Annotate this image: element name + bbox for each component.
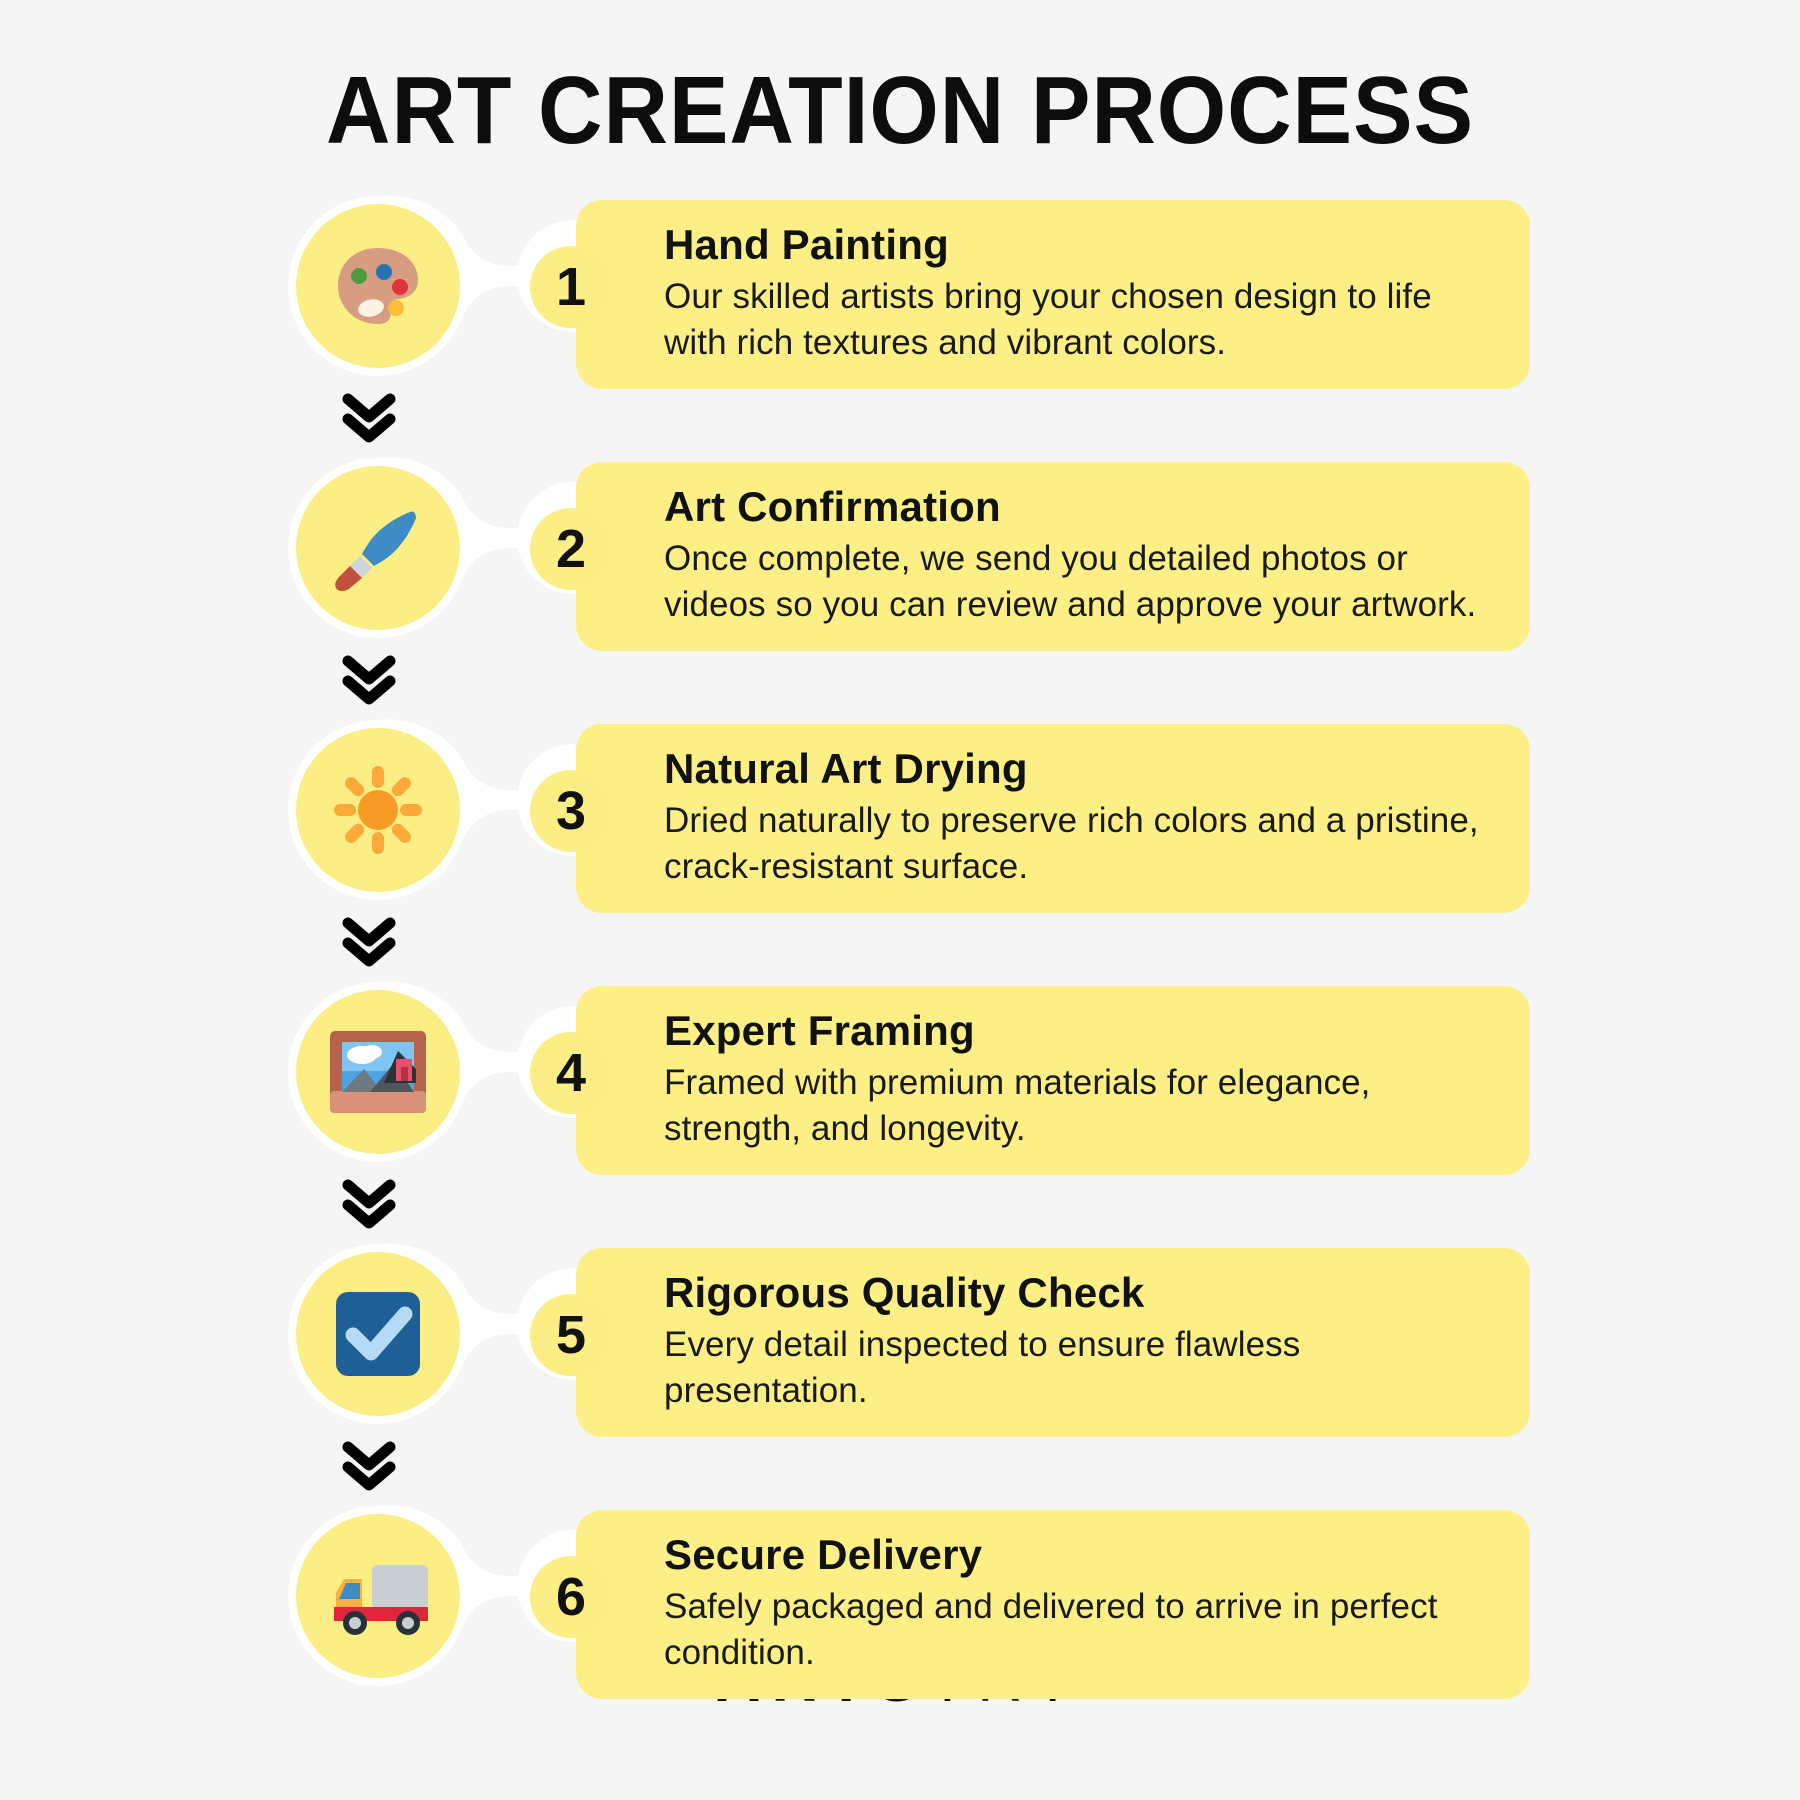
step-description-6: Safely packaged and delivered to arrive …: [664, 1584, 1496, 1676]
step-card-4: Expert Framing Framed with premium mater…: [576, 986, 1530, 1175]
step-icon-circle-6: [296, 1514, 460, 1678]
step-gap-2: [0, 646, 1800, 712]
step-title-2: Art Confirmation: [664, 484, 1496, 530]
step-icon-circle-4: [296, 990, 460, 1154]
step-description-2: Once complete, we send you detailed phot…: [664, 536, 1496, 628]
step-item-2[interactable]: 2 Art Confirmation Once complete, we sen…: [0, 450, 1800, 646]
step-icon-circle-2: [296, 466, 460, 630]
check-box-icon: [326, 1282, 430, 1386]
chevron-double-down-icon: [338, 914, 400, 968]
step-title-3: Natural Art Drying: [664, 746, 1496, 792]
step-card-2: Art Confirmation Once complete, we send …: [576, 462, 1530, 651]
step-icon-circle-1: [296, 204, 460, 368]
step-number-badge-2: 2: [530, 508, 612, 590]
palette-icon: [326, 234, 430, 338]
page-title: ART CREATION PROCESS: [63, 0, 1737, 166]
delivery-truck-icon: [322, 1553, 434, 1639]
step-number-badge-4: 4: [530, 1032, 612, 1114]
step-number-badge-1: 1: [530, 246, 612, 328]
step-title-5: Rigorous Quality Check: [664, 1270, 1496, 1316]
step-description-3: Dried naturally to preserve rich colors …: [664, 798, 1496, 890]
framed-picture-icon: [324, 1025, 432, 1119]
step-item-3[interactable]: 3 Natural Art Drying Dried naturally to …: [0, 712, 1800, 908]
step-card-1: Hand Painting Our skilled artists bring …: [576, 200, 1530, 389]
step-title-1: Hand Painting: [664, 222, 1496, 268]
process-steps-list: 1 Hand Painting Our skilled artists brin…: [0, 188, 1800, 1694]
step-number-badge-5: 5: [530, 1294, 612, 1376]
paintbrush-icon: [326, 496, 430, 600]
step-icon-circle-3: [296, 728, 460, 892]
step-item-1[interactable]: 1 Hand Painting Our skilled artists brin…: [0, 188, 1800, 384]
step-description-5: Every detail inspected to ensure flawles…: [664, 1322, 1496, 1414]
step-title-6: Secure Delivery: [664, 1532, 1496, 1578]
step-gap-1: [0, 384, 1800, 450]
step-item-5[interactable]: 5 Rigorous Quality Check Every detail in…: [0, 1236, 1800, 1432]
step-description-4: Framed with premium materials for elegan…: [664, 1060, 1496, 1152]
chevron-double-down-icon: [338, 1438, 400, 1492]
step-number-badge-6: 6: [530, 1556, 612, 1638]
step-item-4[interactable]: 4 Expert Framing Framed with premium mat…: [0, 974, 1800, 1170]
step-gap-5: [0, 1432, 1800, 1498]
step-gap-3: [0, 908, 1800, 974]
chevron-double-down-icon: [338, 390, 400, 444]
step-title-4: Expert Framing: [664, 1008, 1496, 1054]
sun-icon: [326, 758, 430, 862]
step-card-6: Secure Delivery Safely packaged and deli…: [576, 1510, 1530, 1699]
step-icon-circle-5: [296, 1252, 460, 1416]
chevron-double-down-icon: [338, 1176, 400, 1230]
step-card-5: Rigorous Quality Check Every detail insp…: [576, 1248, 1530, 1437]
step-description-1: Our skilled artists bring your chosen de…: [664, 274, 1496, 366]
step-card-3: Natural Art Drying Dried naturally to pr…: [576, 724, 1530, 913]
chevron-double-down-icon: [338, 652, 400, 706]
step-gap-4: [0, 1170, 1800, 1236]
step-number-badge-3: 3: [530, 770, 612, 852]
